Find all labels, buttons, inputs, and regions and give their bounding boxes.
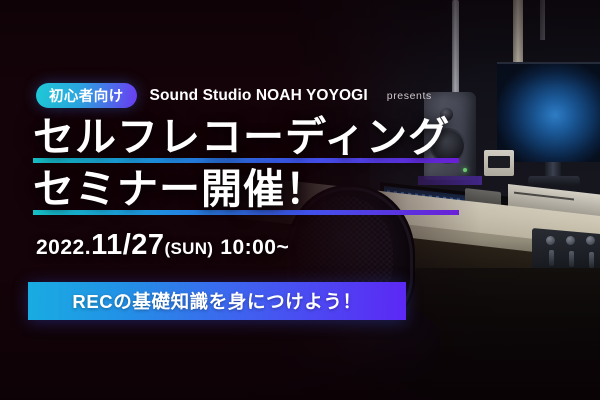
seminar-banner: 初心者向け Sound Studio NOAH YOYOGI presents …: [0, 0, 600, 400]
studio-name-label: Sound Studio NOAH YOYOGI: [150, 87, 368, 105]
title-line-1: セルフレコーディング: [33, 112, 459, 162]
date-year: 2022.: [36, 236, 91, 260]
title-line-2: セミナー開催！: [33, 164, 459, 214]
date-day: 11/27: [91, 229, 164, 262]
cta-label: RECの基礎知識を身につけよう！: [72, 288, 361, 314]
presents-label: presents: [387, 90, 432, 102]
event-date: 2022. 11/27 (SUN) 10:00~: [36, 229, 289, 262]
banner-content: 初心者向け Sound Studio NOAH YOYOGI presents …: [0, 0, 600, 400]
banner-header-row: 初心者向け Sound Studio NOAH YOYOGI presents: [36, 83, 432, 108]
banner-title: セルフレコーディング セミナー開催！: [33, 112, 459, 216]
cta-banner[interactable]: RECの基礎知識を身につけよう！: [28, 282, 406, 320]
date-weekday: (SUN): [165, 239, 214, 259]
beginner-badge: 初心者向け: [36, 83, 137, 108]
date-time: 10:00~: [220, 236, 289, 260]
